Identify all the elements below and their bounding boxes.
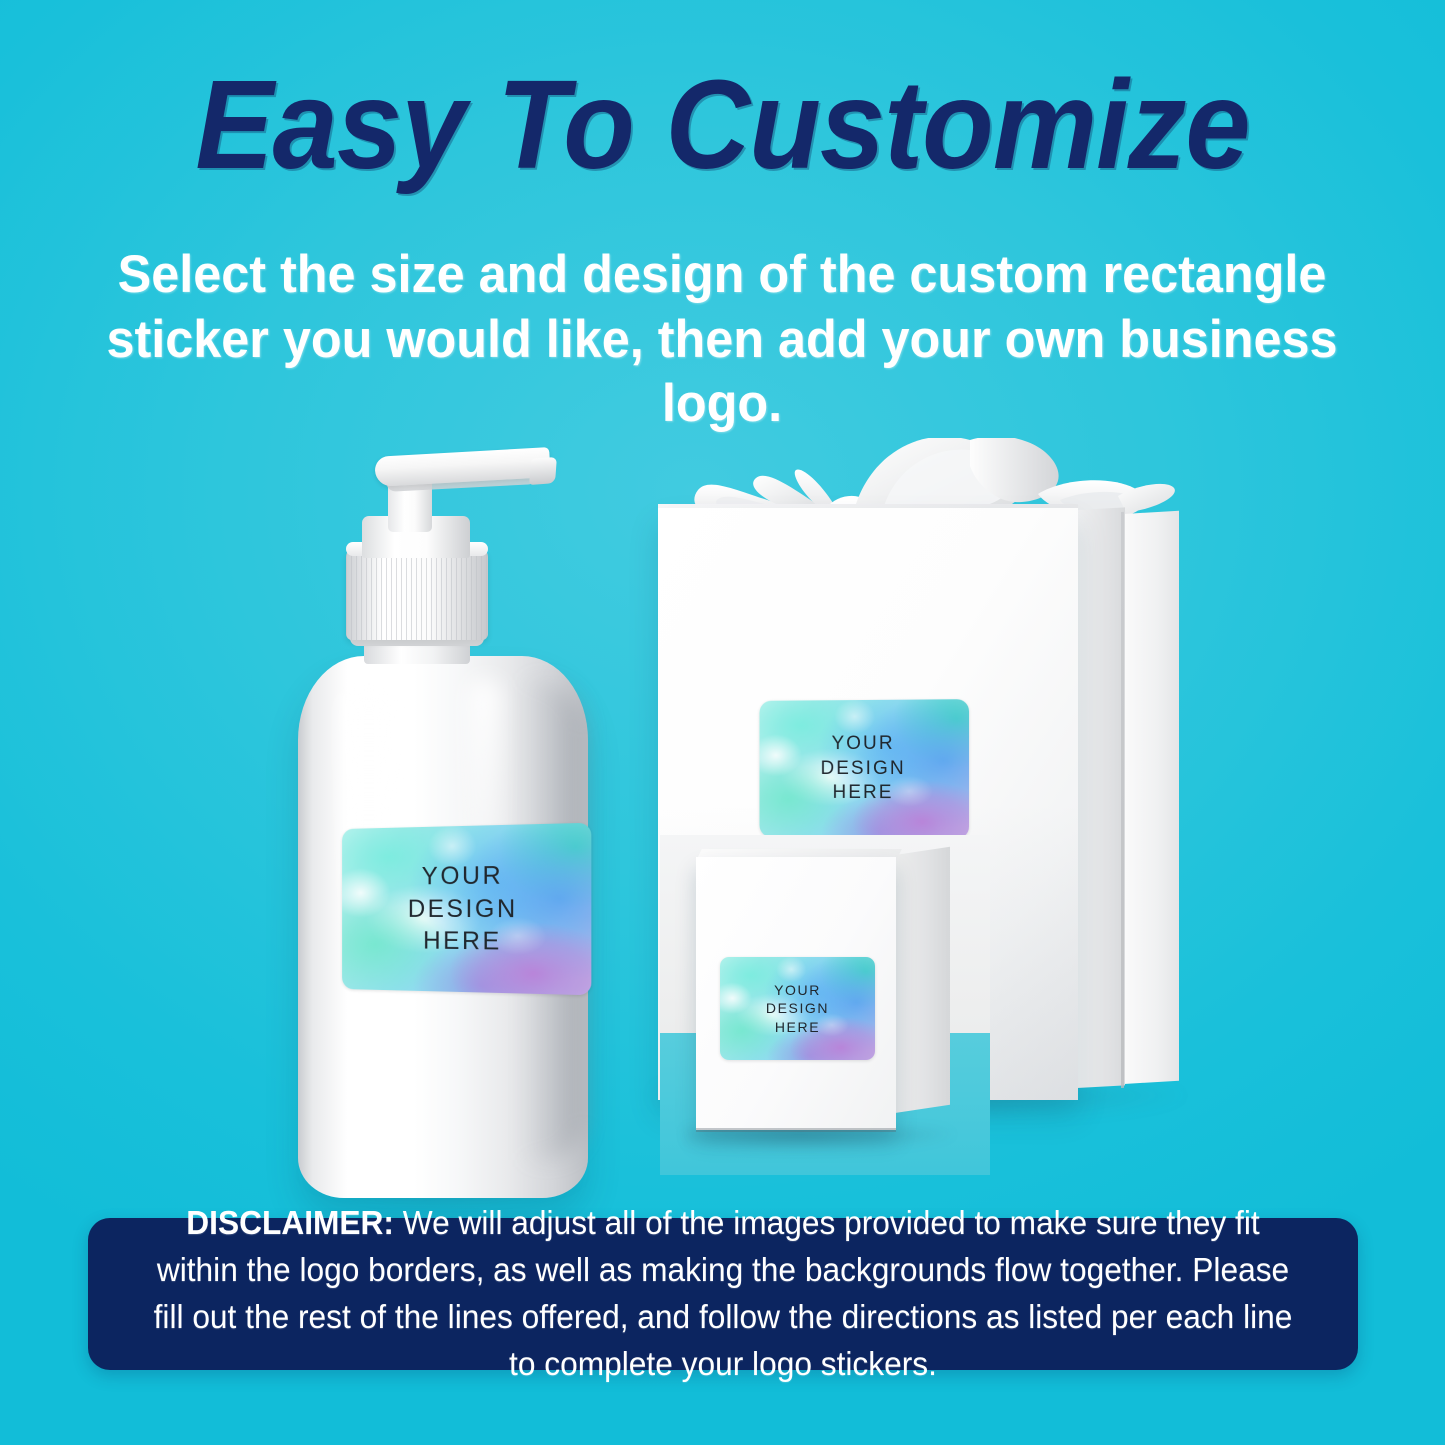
disclaimer-heading: DISCLAIMER: <box>186 1204 394 1241</box>
disclaimer-box: DISCLAIMER: We will adjust all of the im… <box>88 1218 1358 1370</box>
sticker-text: YOUR DESIGN HERE <box>342 823 591 996</box>
pump-collar <box>346 548 488 640</box>
promo-banner: Easy To Customize Select the size and de… <box>0 0 1445 1445</box>
sticker-line-1: YOUR <box>832 732 895 757</box>
sticker-line-2: DESIGN <box>821 757 906 782</box>
gift-box-side-panel-outer <box>1124 511 1179 1084</box>
sticker-line-3: HERE <box>775 1018 820 1036</box>
small-product-box: YOUR DESIGN HERE <box>660 835 990 1175</box>
pump-bottle: YOUR DESIGN HERE <box>290 430 600 1210</box>
product-mockup-scene: YOUR DESIGN HERE <box>0 400 1445 1200</box>
sticker-line-3: HERE <box>423 925 502 958</box>
page-title: Easy To Customize <box>51 62 1395 188</box>
sticker-line-3: HERE <box>833 781 894 806</box>
sticker-text: YOUR DESIGN HERE <box>720 957 875 1060</box>
bottle-sticker: YOUR DESIGN HERE <box>342 823 591 996</box>
sticker-line-1: YOUR <box>422 860 504 893</box>
gift-box-sticker: YOUR DESIGN HERE <box>760 699 970 839</box>
small-box-sticker: YOUR DESIGN HERE <box>720 957 875 1060</box>
gift-box-seam <box>1121 512 1124 1088</box>
sticker-line-2: DESIGN <box>766 999 829 1017</box>
disclaimer-text: DISCLAIMER: We will adjust all of the im… <box>147 1200 1299 1387</box>
sticker-text: YOUR DESIGN HERE <box>760 699 970 839</box>
pump-nozzle-tip <box>529 457 557 485</box>
small-box-side-panel <box>895 847 950 1113</box>
sticker-line-2: DESIGN <box>408 892 518 925</box>
sticker-line-1: YOUR <box>774 981 821 999</box>
small-box-bottom-edge <box>696 1128 896 1132</box>
gift-box-side-panel-inner <box>1077 507 1125 1088</box>
